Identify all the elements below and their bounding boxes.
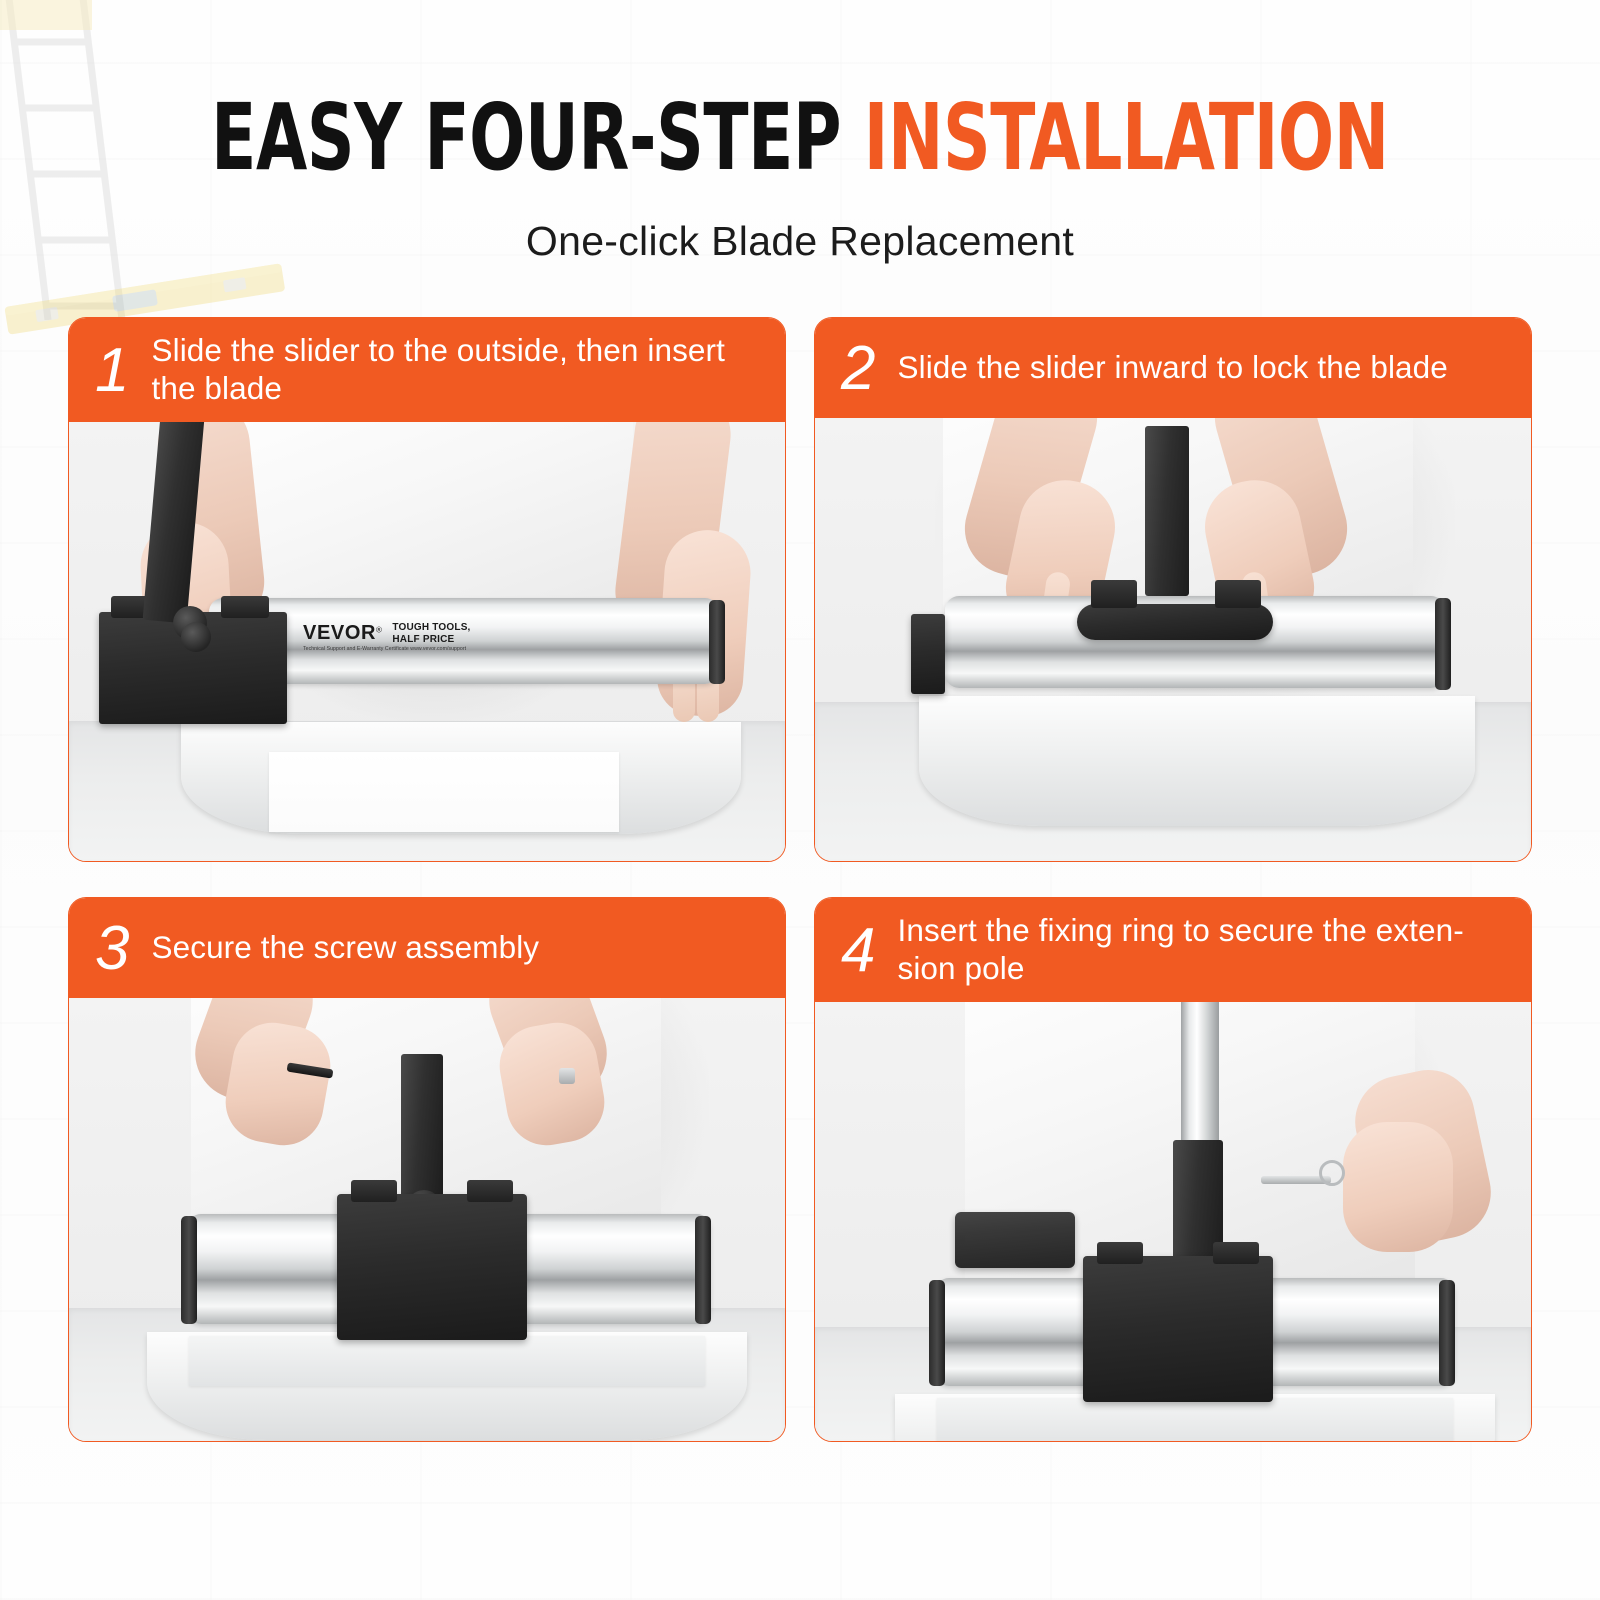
brand-tagline-line2: HALF PRICE [392, 634, 454, 645]
page-title: EASY FOUR-STEP INSTALLATION [160, 92, 1440, 184]
page-subtitle: One-click Blade Replacement [0, 218, 1600, 265]
fixing-ring-icon [1319, 1160, 1345, 1186]
step-number-3: 3 [95, 918, 129, 980]
step-photo-2 [815, 418, 1531, 861]
step-number-4: 4 [841, 920, 875, 982]
page-title-dark: EASY FOUR-STEP [211, 84, 864, 191]
brand-wordmark: VEVOR [303, 622, 376, 645]
step-text-1: Slide the slider to the outside, then in… [151, 331, 763, 408]
step-header-1: 1 Slide the slider to the outside, then … [69, 318, 785, 422]
step-panel-4: 4 Insert the fixing ring to secure the e… [814, 897, 1532, 1442]
step-photo-3 [69, 998, 785, 1441]
nut-part [559, 1068, 575, 1084]
step-number-1: 1 [95, 340, 129, 402]
steps-grid: 1 Slide the slider to the outside, then … [68, 317, 1532, 1442]
brand-fineprint: Technical Support and E-Warranty Certifi… [303, 646, 471, 652]
extension-pole [1181, 1002, 1219, 1152]
step-number-2: 2 [841, 338, 875, 400]
step-text-3: Secure the screw assembly [151, 928, 539, 966]
vevor-brand-logo: VEVOR® TOUGH TOOLS, HALF PRICE Technical… [303, 622, 471, 652]
step-photo-4 [815, 1002, 1531, 1441]
step-panel-2: 2 Slide the slider inward to lock the bl… [814, 317, 1532, 862]
step-header-3: 3 Secure the screw assembly [69, 898, 785, 998]
step-header-2: 2 Slide the slider inward to lock the bl… [815, 318, 1531, 418]
step-header-4: 4 Insert the fixing ring to secure the e… [815, 898, 1531, 1002]
brand-registered-mark: ® [376, 626, 382, 635]
step-panel-1: 1 Slide the slider to the outside, then … [68, 317, 786, 862]
brand-tagline-line1: TOUGH TOOLS, [392, 622, 470, 633]
page-title-accent: INSTALLATION [864, 84, 1389, 191]
step-panel-3: 3 Secure the screw assembly [68, 897, 786, 1442]
step-photo-1: VEVOR® TOUGH TOOLS, HALF PRICE Technical… [69, 422, 785, 861]
step-text-4: Insert the fixing ring to secure the ext… [897, 911, 1509, 988]
step-text-2: Slide the slider inward to lock the blad… [897, 348, 1447, 386]
page-header: EASY FOUR-STEP INSTALLATION One-click Bl… [0, 0, 1600, 265]
